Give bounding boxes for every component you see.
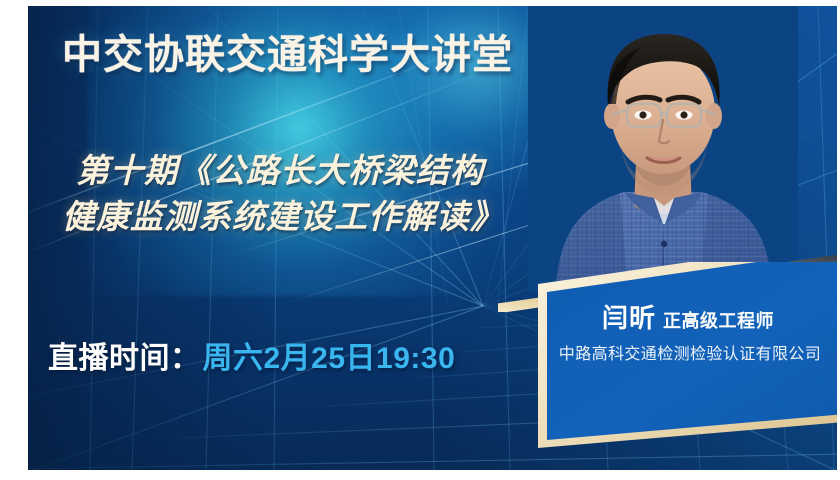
broadcast-time-label: 直播时间： [48, 342, 201, 375]
speaker-name: 闫昕 [602, 303, 656, 333]
page-title: 中交协联交通科学大讲堂 [62, 32, 513, 78]
speaker-plate-text: 闫昕正高级工程师 中路高科交通检测检验认证有限公司 [516, 262, 837, 452]
speaker-info-plate: 闫昕正高级工程师 中路高科交通检测检验认证有限公司 [516, 262, 837, 452]
subtitle-line-2: 健康监测系统建设工作解读》 [62, 194, 592, 240]
speaker-name-row: 闫昕正高级工程师 [516, 298, 837, 335]
subtitle-line-1: 第十期《公路长大桥梁结构 [76, 148, 592, 194]
subtitle-block: 第十期《公路长大桥梁结构 健康监测系统建设工作解读》 [62, 148, 592, 240]
poster-root: 闫昕正高级工程师 中路高科交通检测检验认证有限公司 中交协联交通科学大讲堂 第十… [0, 0, 840, 480]
broadcast-time-value: 周六2月25日19:30 [203, 342, 456, 375]
banner-canvas: 闫昕正高级工程师 中路高科交通检测检验认证有限公司 中交协联交通科学大讲堂 第十… [28, 6, 837, 470]
broadcast-time-line: 直播时间：周六2月25日19:30 [48, 333, 455, 377]
speaker-organization: 中路高科交通检测检验认证有限公司 [516, 340, 837, 364]
speaker-title: 正高级工程师 [663, 311, 774, 331]
